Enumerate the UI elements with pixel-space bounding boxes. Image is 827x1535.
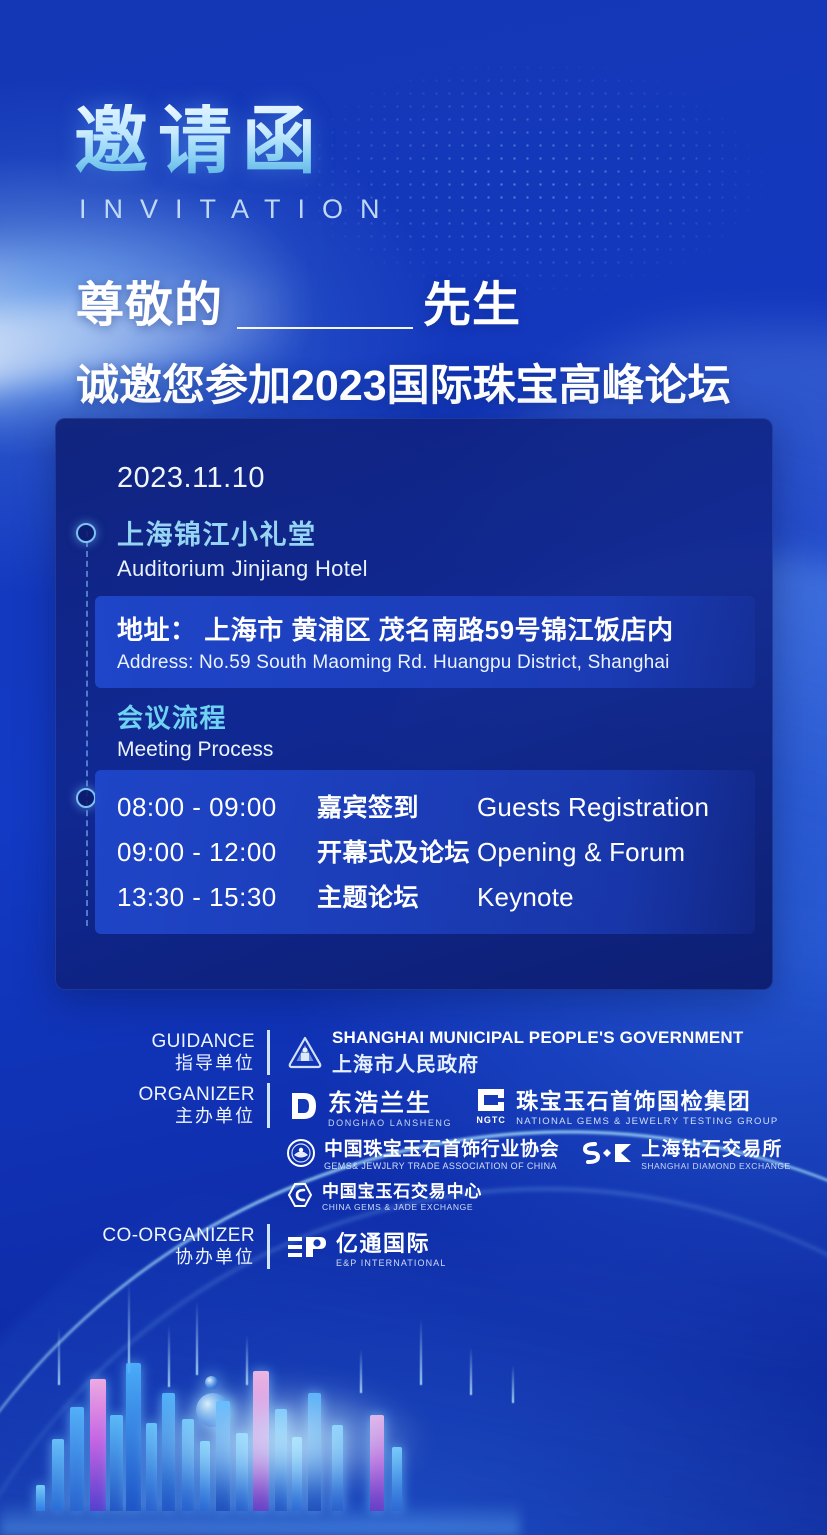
shanghai-government-emblem-icon (286, 1034, 324, 1072)
logo-name-en: SHANGHAI MUNICIPAL PEOPLE'S GOVERNMENT (332, 1028, 744, 1048)
logo-text-shanghai-government: SHANGHAI MUNICIPAL PEOPLE'S GOVERNMENT 上… (332, 1028, 744, 1077)
sponsors-section: GUIDANCE 指导单位 SHANGHAI MUNICIPAL PEOPL (0, 1028, 827, 1275)
sponsor-row-organizer: ORGANIZER 主办单位 东浩兰生 DONGHAO LANSHENG (0, 1083, 827, 1128)
shanghai-diamond-exchange-logo-icon (581, 1140, 633, 1166)
logo-china-gems-jade-exchange: 中国宝玉石交易中心 CHINA GEMS & JADE EXCHANGE (286, 1177, 482, 1212)
table-row: 13:30 - 15:30 主题论坛 Keynote (117, 878, 755, 914)
event-info-card: 2023.11.10 上海锦江小礼堂 Auditorium Jinjiang H… (55, 418, 773, 990)
logo-text-gems-jewelry-association: 中国珠宝玉石首饰行业协会 GEMS& JEWJLRY TRADE ASSOCIA… (324, 1134, 559, 1171)
timeline-dot-process (76, 788, 96, 808)
donghao-lansheng-logo-icon (286, 1089, 320, 1123)
greeting-block: 尊敬的 先生 诚邀您参加2023国际珠宝高峰论坛 (76, 265, 776, 413)
event-primary-info: 2023.11.10 上海锦江小礼堂 Auditorium Jinjiang H… (117, 462, 753, 582)
schedule-label-cn: 开幕式及论坛 (317, 833, 477, 869)
event-venue-cn: 上海锦江小礼堂 (117, 513, 753, 552)
meeting-process-en: Meeting Process (117, 738, 273, 762)
ep-international-logo-icon (286, 1232, 328, 1262)
invite-headline: 诚邀您参加2023国际珠宝高峰论坛 (76, 351, 776, 413)
logo-name-cn: 上海钻石交易所 (641, 1134, 790, 1161)
meeting-process-heading: 会议流程 Meeting Process (117, 698, 273, 762)
table-row: 08:00 - 09:00 嘉宾签到 Guests Registration (117, 788, 755, 824)
sponsor-logos-guidance: SHANGHAI MUNICIPAL PEOPLE'S GOVERNMENT 上… (286, 1028, 744, 1077)
logo-name-cn: 亿通国际 (336, 1226, 446, 1258)
shanghai-skyline-graphic (0, 1305, 560, 1535)
invitation-poster: 邀请函 INVITATION 尊敬的 先生 诚邀您参加2023国际珠宝高峰论坛 … (0, 0, 827, 1535)
logo-text-china-gems-jade-exchange: 中国宝玉石交易中心 CHINA GEMS & JADE EXCHANGE (322, 1177, 482, 1212)
logo-name-en: NATIONAL GEMS & JEWELRY TESTING GROUP (516, 1116, 778, 1127)
sponsor-logos-organizer-row1: 东浩兰生 DONGHAO LANSHENG NGTC 珠宝玉石首饰国检集团 (286, 1083, 779, 1128)
sponsor-label-en: GUIDANCE (0, 1030, 255, 1053)
schedule-time: 13:30 - 15:30 (117, 882, 317, 913)
sponsor-label-co-organizer: CO-ORGANIZER 协办单位 (0, 1224, 270, 1269)
logo-name-en: CHINA GEMS & JADE EXCHANGE (322, 1202, 482, 1212)
sponsor-row-organizer-2: 中国珠宝玉石首饰行业协会 GEMS& JEWJLRY TRADE ASSOCIA… (0, 1134, 827, 1171)
sponsor-label-cn: 指导单位 (0, 1053, 255, 1075)
salutation-suffix: 先生 (423, 265, 521, 335)
event-address-cn: 地址： 上海市 黄浦区 茂名南路59号锦江饭店内 (117, 610, 755, 647)
timeline-dot-venue (76, 523, 96, 543)
schedule-label-cn: 主题论坛 (317, 878, 477, 914)
poster-header: 邀请函 INVITATION (74, 104, 397, 225)
logo-name-cn: 上海市人民政府 (332, 1048, 744, 1077)
gems-jewelry-association-logo-icon (286, 1138, 316, 1168)
sponsor-label-cn: 主办单位 (0, 1106, 255, 1128)
sponsor-logos-co-organizer: 亿通国际 E&P INTERNATIONAL (286, 1226, 446, 1268)
skyline-reflection-glow (130, 1380, 430, 1500)
logo-name-en: GEMS& JEWJLRY TRADE ASSOCIATION OF CHINA (324, 1161, 559, 1171)
logo-ep-international: 亿通国际 E&P INTERNATIONAL (286, 1226, 446, 1268)
salutation-prefix: 尊敬的 (76, 265, 223, 335)
china-gems-jade-exchange-logo-icon (286, 1181, 314, 1209)
logo-text-shanghai-diamond-exchange: 上海钻石交易所 SHANGHAI DIAMOND EXCHANGE (641, 1134, 790, 1171)
sponsor-label-en: CO-ORGANIZER (0, 1224, 255, 1247)
logo-text-ep-international: 亿通国际 E&P INTERNATIONAL (336, 1226, 446, 1268)
logo-name-en: E&P INTERNATIONAL (336, 1258, 446, 1268)
meeting-process-cn: 会议流程 (117, 698, 273, 735)
sponsor-row-organizer-3: 中国宝玉石交易中心 CHINA GEMS & JADE EXCHANGE (0, 1177, 827, 1212)
ngtc-badge-text: NGTC (476, 1115, 506, 1125)
skyline-ground-glow (0, 1501, 520, 1535)
logo-donghao-lansheng: 东浩兰生 DONGHAO LANSHENG (286, 1083, 452, 1128)
sponsor-label-organizer: ORGANIZER 主办单位 (0, 1083, 270, 1128)
sponsor-label-guidance: GUIDANCE 指导单位 (0, 1030, 270, 1075)
schedule-time: 08:00 - 09:00 (117, 792, 317, 823)
sponsor-logos-organizer-row3: 中国宝玉石交易中心 CHINA GEMS & JADE EXCHANGE (286, 1177, 482, 1212)
event-date: 2023.11.10 (117, 462, 753, 495)
event-venue-en: Auditorium Jinjiang Hotel (117, 556, 753, 582)
page-title-cn: 邀请函 (74, 104, 397, 182)
logo-name-en: DONGHAO LANSHENG (328, 1118, 452, 1128)
timeline-dashed-line (86, 531, 88, 926)
sponsor-label-cn: 协办单位 (0, 1247, 255, 1269)
logo-shanghai-diamond-exchange: 上海钻石交易所 SHANGHAI DIAMOND EXCHANGE (581, 1134, 790, 1171)
logo-name-cn: 珠宝玉石首饰国检集团 (516, 1084, 778, 1116)
logo-name-en: SHANGHAI DIAMOND EXCHANGE (641, 1161, 790, 1171)
schedule-label-en: Guests Registration (477, 792, 709, 823)
salutation-row: 尊敬的 先生 (76, 265, 776, 335)
logo-name-cn: 东浩兰生 (328, 1083, 452, 1118)
logo-ngtc: NGTC 珠宝玉石首饰国检集团 NATIONAL GEMS & JEWELRY … (474, 1084, 778, 1127)
schedule-table: 08:00 - 09:00 嘉宾签到 Guests Registration 0… (95, 770, 755, 934)
sponsor-label-en: ORGANIZER (0, 1083, 255, 1106)
schedule-label-en: Keynote (477, 882, 574, 913)
logo-name-cn: 中国宝玉石交易中心 (322, 1177, 482, 1202)
logo-gems-jewelry-association: 中国珠宝玉石首饰行业协会 GEMS& JEWJLRY TRADE ASSOCIA… (286, 1134, 559, 1171)
table-row: 09:00 - 12:00 开幕式及论坛 Opening & Forum (117, 833, 755, 869)
ngtc-logo-icon: NGTC (474, 1086, 508, 1125)
logo-name-cn: 中国珠宝玉石首饰行业协会 (324, 1134, 559, 1161)
event-address-en: Address: No.59 South Maoming Rd. Huangpu… (117, 652, 755, 674)
event-address-band: 地址： 上海市 黄浦区 茂名南路59号锦江饭店内 Address: No.59 … (95, 596, 755, 688)
logo-shanghai-government: SHANGHAI MUNICIPAL PEOPLE'S GOVERNMENT 上… (286, 1028, 744, 1077)
recipient-name-blank[interactable] (223, 281, 423, 335)
schedule-label-cn: 嘉宾签到 (317, 788, 477, 824)
page-title-en: INVITATION (79, 194, 397, 225)
schedule-time: 09:00 - 12:00 (117, 837, 317, 868)
sponsor-row-co-organizer: CO-ORGANIZER 协办单位 亿通国际 (0, 1224, 827, 1269)
logo-text-donghao-lansheng: 东浩兰生 DONGHAO LANSHENG (328, 1083, 452, 1128)
sponsor-row-guidance: GUIDANCE 指导单位 SHANGHAI MUNICIPAL PEOPL (0, 1028, 827, 1077)
schedule-label-en: Opening & Forum (477, 837, 685, 868)
logo-text-ngtc: 珠宝玉石首饰国检集团 NATIONAL GEMS & JEWELRY TESTI… (516, 1084, 778, 1127)
sponsor-logos-organizer-row2: 中国珠宝玉石首饰行业协会 GEMS& JEWJLRY TRADE ASSOCIA… (286, 1134, 791, 1171)
